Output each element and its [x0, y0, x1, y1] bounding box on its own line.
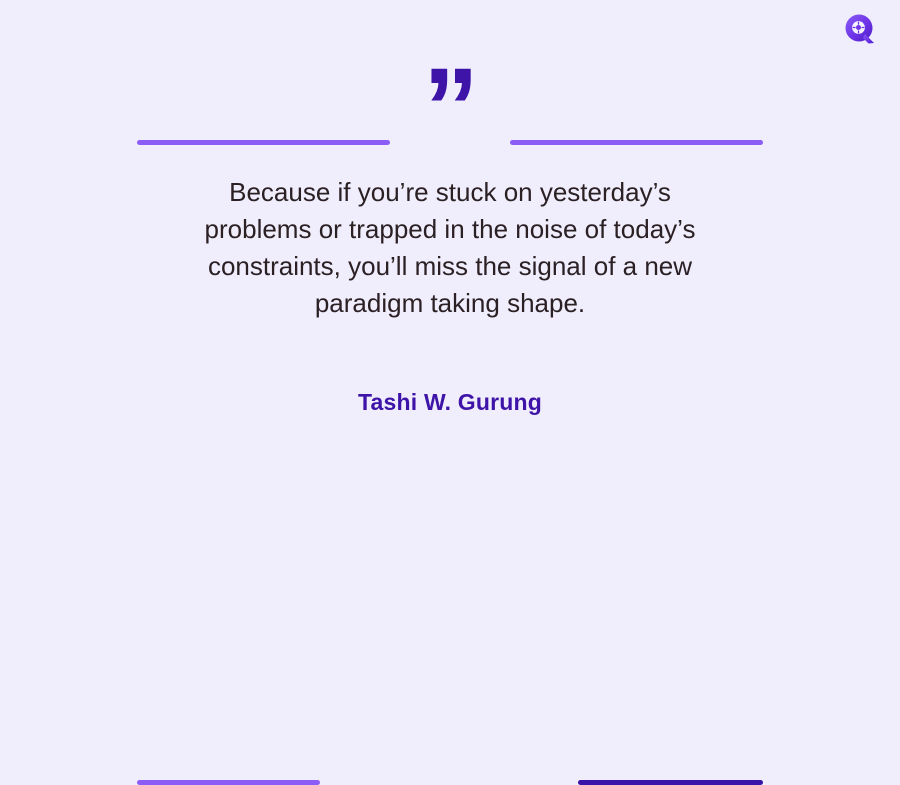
magnifier-q-logo-icon	[841, 10, 879, 48]
divider-bottom-left	[137, 780, 320, 785]
divider-top-right	[510, 140, 763, 145]
divider-bottom-right	[578, 780, 763, 785]
quote-line: Because if you’re stuck on yesterday’s	[150, 174, 750, 211]
quote-line: constraints, you’ll miss the signal of a…	[150, 248, 750, 285]
quote-line: problems or trapped in the noise of toda…	[150, 211, 750, 248]
author-name: Tashi W. Gurung	[0, 380, 900, 425]
quote-mark-glyph: ”	[0, 52, 900, 164]
quote-card: ” Because if you’re stuck on yesterday’s…	[0, 0, 900, 500]
quote-text: Because if you’re stuck on yesterday’s p…	[150, 174, 750, 322]
attribution-row: Tashi W. Gurung	[0, 380, 900, 425]
quote-line: paradigm taking shape.	[150, 285, 750, 322]
quote-mark-row: ”	[0, 52, 900, 132]
